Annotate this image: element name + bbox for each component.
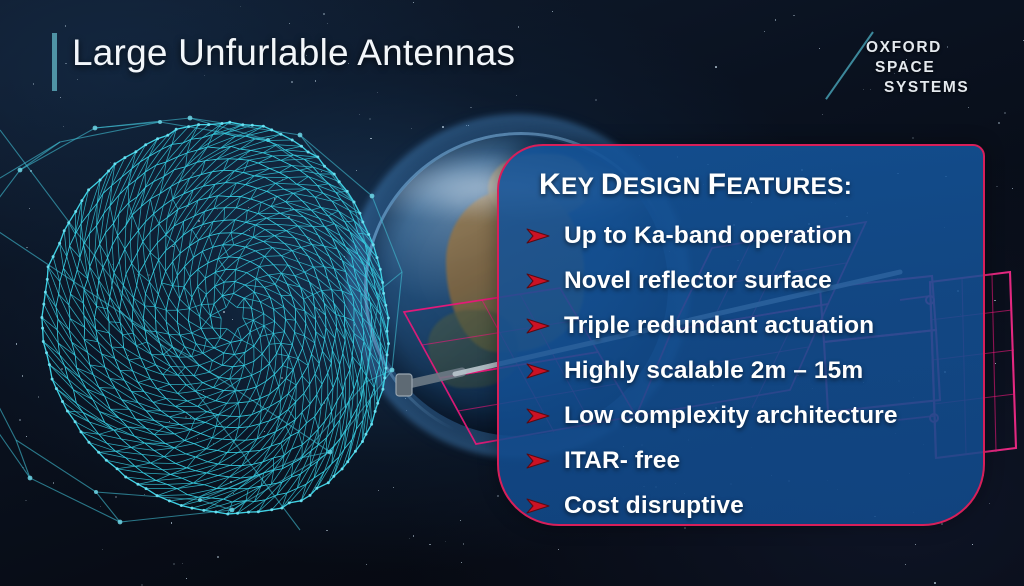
feature-label: ITAR- free [564,447,680,475]
arrow-bullet-icon [525,226,551,246]
feature-list-item: Low complexity architecture [525,396,965,436]
slide-canvas: Large Unfurlable Antennas OXFORD SPACE S… [0,0,1024,586]
arrow-bullet-icon [525,271,551,291]
title-accent-bar [52,33,57,91]
logo-line-3: SYSTEMS [866,78,986,98]
arrow-bullet-icon [525,316,551,336]
heading-space-1 [594,173,601,200]
arrow-bullet-icon [525,451,551,471]
page-title: Large Unfurlable Antennas [72,32,515,74]
panel-content: KEY DESIGN FEATURES: Up to Ka-band opera… [499,146,983,524]
feature-list-item: Up to Ka-band operation [525,216,965,256]
panel-heading: KEY DESIGN FEATURES: [539,168,965,202]
heading-esign: ESIGN [623,173,701,200]
feature-label: Novel reflector surface [564,267,832,295]
key-design-features-panel: KEY DESIGN FEATURES: Up to Ka-band opera… [497,144,985,526]
features-list: Up to Ka-band operationNovel reflector s… [525,216,965,526]
heading-ey: EY [561,173,594,200]
feature-list-item: ITAR- free [525,441,965,481]
feature-list-item: Triple redundant actuation [525,306,965,346]
heading-cap-f: F [708,168,727,201]
arrow-bullet-icon [525,451,551,471]
company-logo: OXFORD SPACE SYSTEMS [866,38,986,104]
arrow-bullet-icon [525,406,551,426]
feature-list-item: Highly scalable 2m – 15m [525,351,965,391]
arrow-bullet-icon [525,496,551,516]
feature-label: Cost disruptive [564,492,744,520]
feature-label: Triple redundant actuation [564,312,874,340]
arrow-bullet-icon [525,226,551,246]
feature-label: Highly scalable 2m – 15m [564,357,863,385]
arrow-bullet-icon [525,361,551,381]
feature-list-item: Cost disruptive [525,486,965,526]
feature-label: Up to Ka-band operation [564,222,852,250]
heading-eatures: EATURES: [726,173,852,200]
logo-line-2: SPACE [866,58,986,78]
logo-text: OXFORD SPACE SYSTEMS [866,38,986,98]
feature-list-item: Novel reflector surface [525,261,965,301]
arrow-bullet-icon [525,361,551,381]
arrow-bullet-icon [525,496,551,516]
arrow-bullet-icon [525,406,551,426]
logo-line-1: OXFORD [866,38,986,58]
heading-cap-k: K [539,168,561,201]
arrow-bullet-icon [525,316,551,336]
arrow-bullet-icon [525,271,551,291]
heading-space-2 [701,173,708,200]
feature-label: Low complexity architecture [564,402,898,430]
heading-cap-d: D [601,168,623,201]
